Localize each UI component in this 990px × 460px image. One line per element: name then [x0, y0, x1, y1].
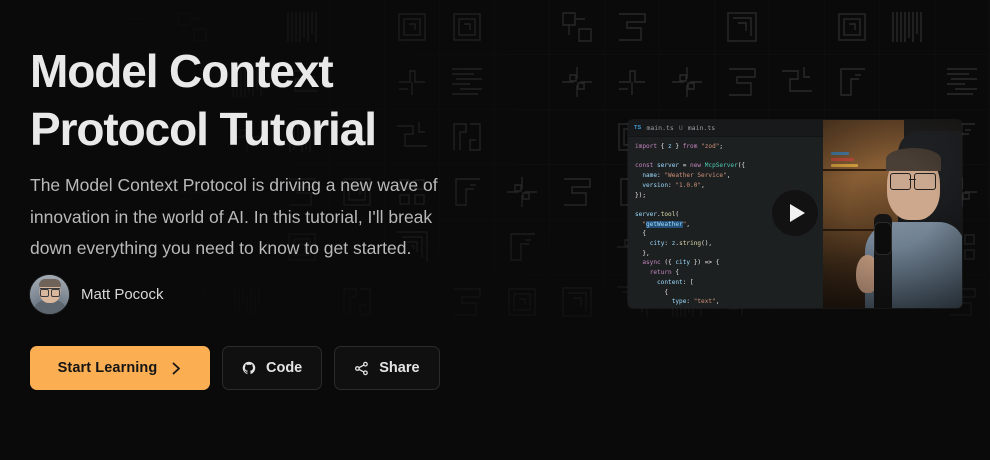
page-title-line-1: Model Context: [30, 42, 590, 100]
code-line: content: [: [635, 278, 823, 288]
editor-tab-filename: main.ts: [646, 124, 673, 132]
hero-description: The Model Context Protocol is driving a …: [30, 170, 470, 265]
background-glyph: [770, 0, 825, 55]
background-glyph: [935, 55, 990, 110]
background-glyph: [825, 0, 880, 55]
code-line: name: "Weather Service",: [635, 171, 823, 181]
background-glyph: [495, 220, 550, 275]
background-glyph: [935, 0, 990, 55]
editor-tab-bar: TS main.ts U main.ts: [628, 120, 823, 137]
background-glyph: [550, 275, 605, 330]
background-glyph: [330, 275, 385, 330]
background-glyph: [220, 275, 275, 330]
background-glyph: [440, 275, 495, 330]
background-glyph: [660, 0, 715, 55]
start-learning-button[interactable]: Start Learning: [30, 346, 210, 390]
background-glyph: [385, 275, 440, 330]
code-button[interactable]: Code: [222, 346, 322, 390]
background-glyph: [880, 55, 935, 110]
background-glyph: [770, 55, 825, 110]
background-glyph: [715, 55, 770, 110]
author-row: Matt Pocock: [30, 275, 164, 314]
share-button-label: Share: [379, 360, 419, 376]
share-icon: [354, 361, 369, 376]
background-glyph: [550, 220, 605, 275]
background-glyph: [715, 0, 770, 55]
play-button[interactable]: [772, 190, 818, 236]
background-glyph: [275, 275, 330, 330]
background-glyph: [495, 165, 550, 220]
code-line: async ({ city }) => {: [635, 258, 823, 268]
background-glyph: [550, 165, 605, 220]
chevron-right-icon: [171, 362, 182, 375]
background-glyph: [880, 0, 935, 55]
start-learning-label: Start Learning: [58, 360, 158, 376]
code-line: [635, 152, 823, 162]
background-glyph: [825, 55, 880, 110]
share-button[interactable]: Share: [334, 346, 439, 390]
code-button-label: Code: [266, 360, 302, 376]
code-line: type: "text",: [635, 297, 823, 307]
editor-tab-state: U: [679, 124, 683, 132]
typescript-file-icon: TS: [634, 125, 641, 131]
author-name: Matt Pocock: [81, 286, 164, 303]
page-title-line-2: Protocol Tutorial: [30, 100, 590, 158]
code-line: {: [635, 288, 823, 298]
background-glyph: [495, 275, 550, 330]
avatar: [30, 275, 69, 314]
background-glyph: [660, 55, 715, 110]
code-line: return {: [635, 268, 823, 278]
background-glyph: [605, 0, 660, 55]
background-glyph: [605, 55, 660, 110]
action-bar: Start Learning Code: [30, 346, 440, 390]
video-speaker-frame: [823, 120, 962, 308]
page-title: Model Context Protocol Tutorial: [30, 42, 590, 158]
code-line: city: z.string(),: [635, 239, 823, 249]
code-line: const server = new McpServer({: [635, 161, 823, 171]
play-icon: [790, 204, 805, 222]
code-line: import { z } from "zod";: [635, 142, 823, 152]
editor-tab-filename-secondary: main.ts: [688, 124, 715, 132]
background-glyph: [165, 275, 220, 330]
github-icon: [242, 361, 256, 375]
code-line: },: [635, 249, 823, 259]
